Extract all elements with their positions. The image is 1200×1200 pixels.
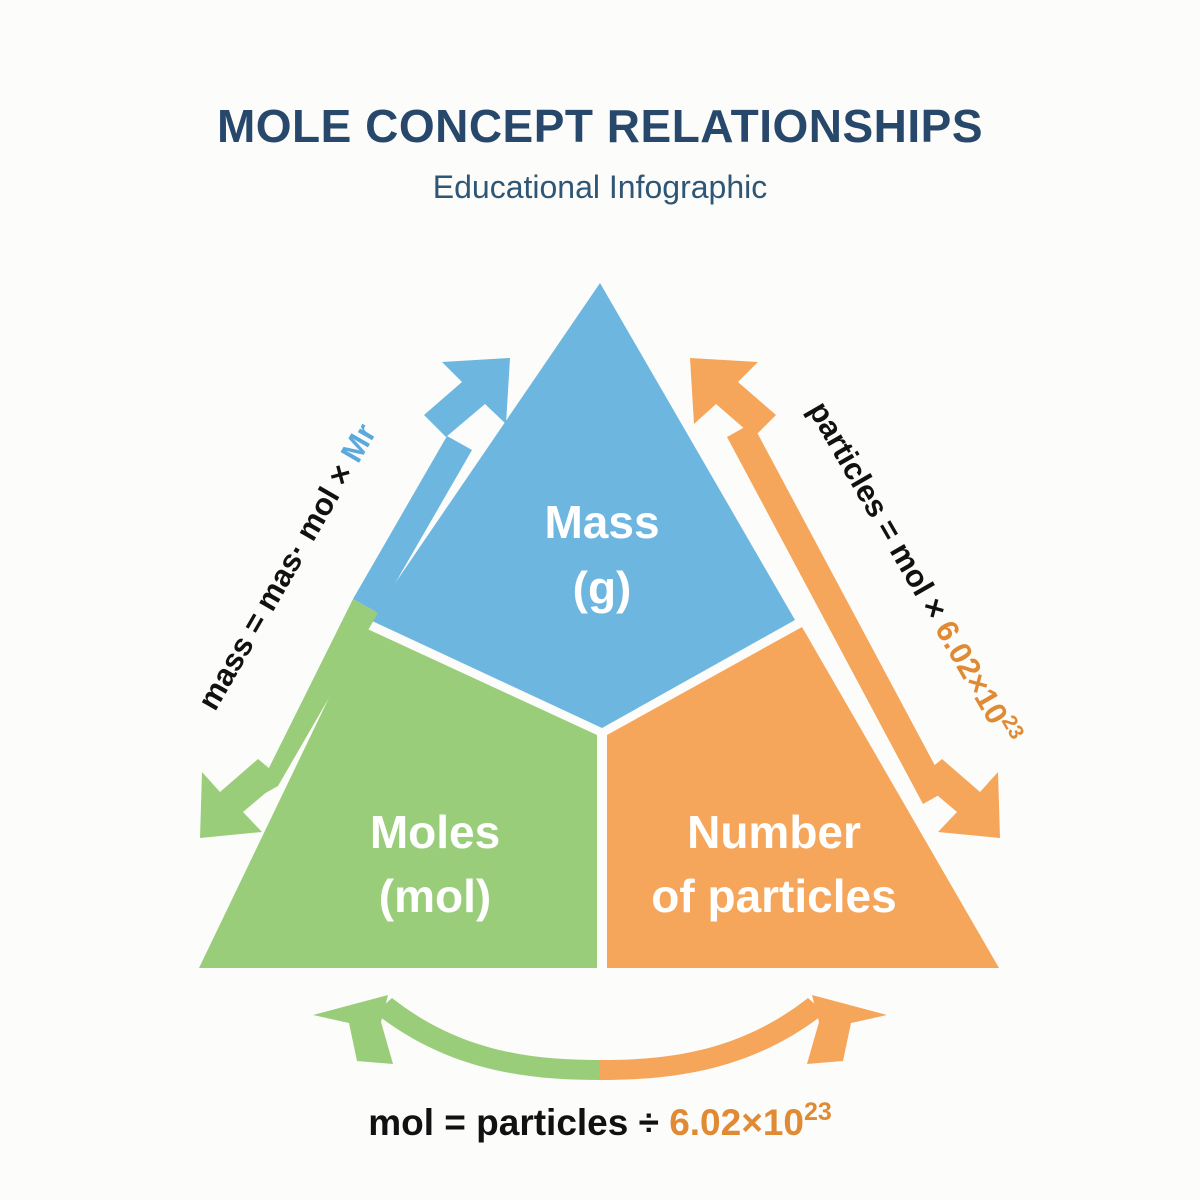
segment-mass-label-line2: (g) <box>573 562 632 614</box>
segment-moles-label-line2: (mol) <box>379 870 491 922</box>
relation-bottom-label-group: mol = particles ÷ 6.02×1023 <box>368 1098 832 1143</box>
relation-bottom-plain: mol = particles ÷ <box>368 1102 669 1143</box>
mole-concept-diagram: MOLE CONCEPT RELATIONSHIPS Educational I… <box>0 0 1200 1200</box>
infographic-canvas: MOLE CONCEPT RELATIONSHIPS Educational I… <box>0 0 1200 1200</box>
relation-bottom-accent: 6.02×10 <box>669 1102 804 1143</box>
segment-particles-label-line2: of particles <box>651 870 896 922</box>
segment-moles-label-line1: Moles <box>370 806 500 858</box>
segment-particles-label-line1: Number <box>687 806 861 858</box>
segment-mass-label-line1: Mass <box>544 496 659 548</box>
relation-bottom-exponent: 23 <box>804 1098 832 1126</box>
relation-bottom-label: mol = particles ÷ 6.02×1023 <box>368 1098 832 1143</box>
page-subtitle: Educational Infographic <box>433 169 767 205</box>
page-title: MOLE CONCEPT RELATIONSHIPS <box>217 100 983 152</box>
